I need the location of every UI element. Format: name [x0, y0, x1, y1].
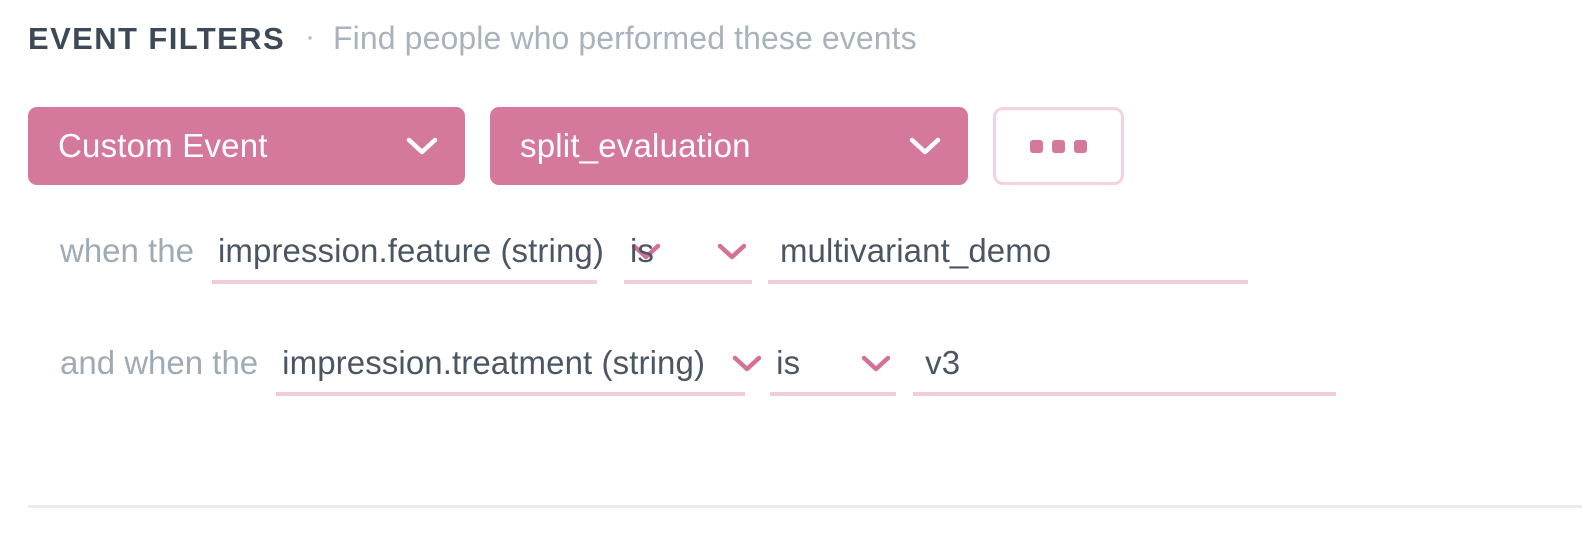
property-value-text: multivariant_demo — [780, 232, 1051, 270]
chevron-down-icon — [716, 241, 748, 262]
section-divider — [28, 505, 1582, 508]
event-filters-panel: EVENT FILTERS · Find people who performe… — [0, 0, 1582, 546]
ellipsis-icon — [1030, 140, 1087, 153]
filter-conjunction-label: and when the — [60, 344, 258, 396]
event-filters-header: EVENT FILTERS · Find people who performe… — [28, 20, 917, 57]
chevron-down-icon — [405, 135, 439, 157]
header-subtitle: Find people who performed these events — [333, 20, 917, 57]
property-value-text: v3 — [925, 344, 960, 382]
property-name-select[interactable]: impression.treatment (string) — [276, 344, 745, 396]
header-separator-dot: · — [305, 22, 315, 52]
event-more-options-button[interactable] — [993, 107, 1124, 185]
property-value-input[interactable]: v3 — [913, 344, 1336, 396]
event-name-label: split_evaluation — [520, 127, 751, 165]
filter-conjunction-label: when the — [60, 232, 194, 284]
event-type-dropdown[interactable]: Custom Event — [28, 107, 465, 185]
property-name-value: impression.feature (string) — [218, 232, 604, 270]
property-name-value: impression.treatment (string) — [282, 344, 705, 382]
property-operator-value: is — [630, 232, 654, 270]
page-title: EVENT FILTERS — [28, 21, 285, 57]
event-selector-row: Custom Event split_evaluation — [28, 107, 1124, 185]
property-filter-row: when the impression.feature (string) is … — [60, 232, 1248, 284]
property-operator-select[interactable]: is — [770, 344, 896, 396]
property-operator-value: is — [776, 344, 800, 382]
event-type-label: Custom Event — [58, 127, 268, 165]
chevron-down-icon — [908, 135, 942, 157]
property-value-input[interactable]: multivariant_demo — [768, 232, 1248, 284]
property-filter-row: and when the impression.treatment (strin… — [60, 344, 1336, 396]
chevron-down-icon — [731, 353, 763, 374]
property-operator-select[interactable]: is — [624, 232, 752, 284]
chevron-down-icon — [860, 353, 892, 374]
property-name-select[interactable]: impression.feature (string) — [212, 232, 597, 284]
event-name-dropdown[interactable]: split_evaluation — [490, 107, 968, 185]
